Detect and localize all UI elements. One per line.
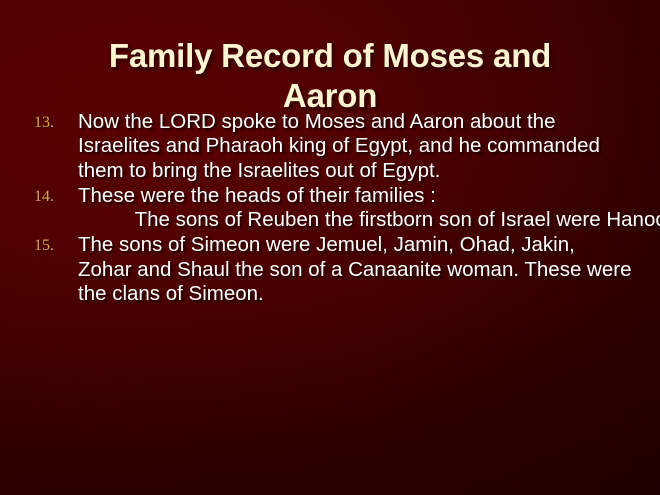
verse-list: 13. Now the LORD spoke to Moses and Aaro… (0, 110, 660, 307)
verse-number: 13. (34, 112, 72, 134)
verse-text: These were the heads of their families : (78, 184, 632, 208)
verse-subline: The sons of Reuben the firstborn son of … (78, 208, 632, 232)
verse-text: Now the LORD spoke to Moses and Aaron ab… (78, 110, 632, 183)
verse-number: 14. (34, 186, 72, 208)
slide-title: Family Record of Moses and Aaron (24, 36, 636, 116)
slide-title-line-1: Family Record of Moses and (24, 36, 636, 76)
verse-item: 14. These were the heads of their famili… (0, 184, 660, 233)
presentation-slide: Family Record of Moses and Aaron 13. Now… (0, 0, 660, 495)
verse-number: 15. (34, 235, 72, 257)
verse-text: The sons of Simeon were Jemuel, Jamin, O… (78, 233, 632, 306)
verse-item: 15. The sons of Simeon were Jemuel, Jami… (0, 233, 660, 306)
verse-item: 13. Now the LORD spoke to Moses and Aaro… (0, 110, 660, 183)
